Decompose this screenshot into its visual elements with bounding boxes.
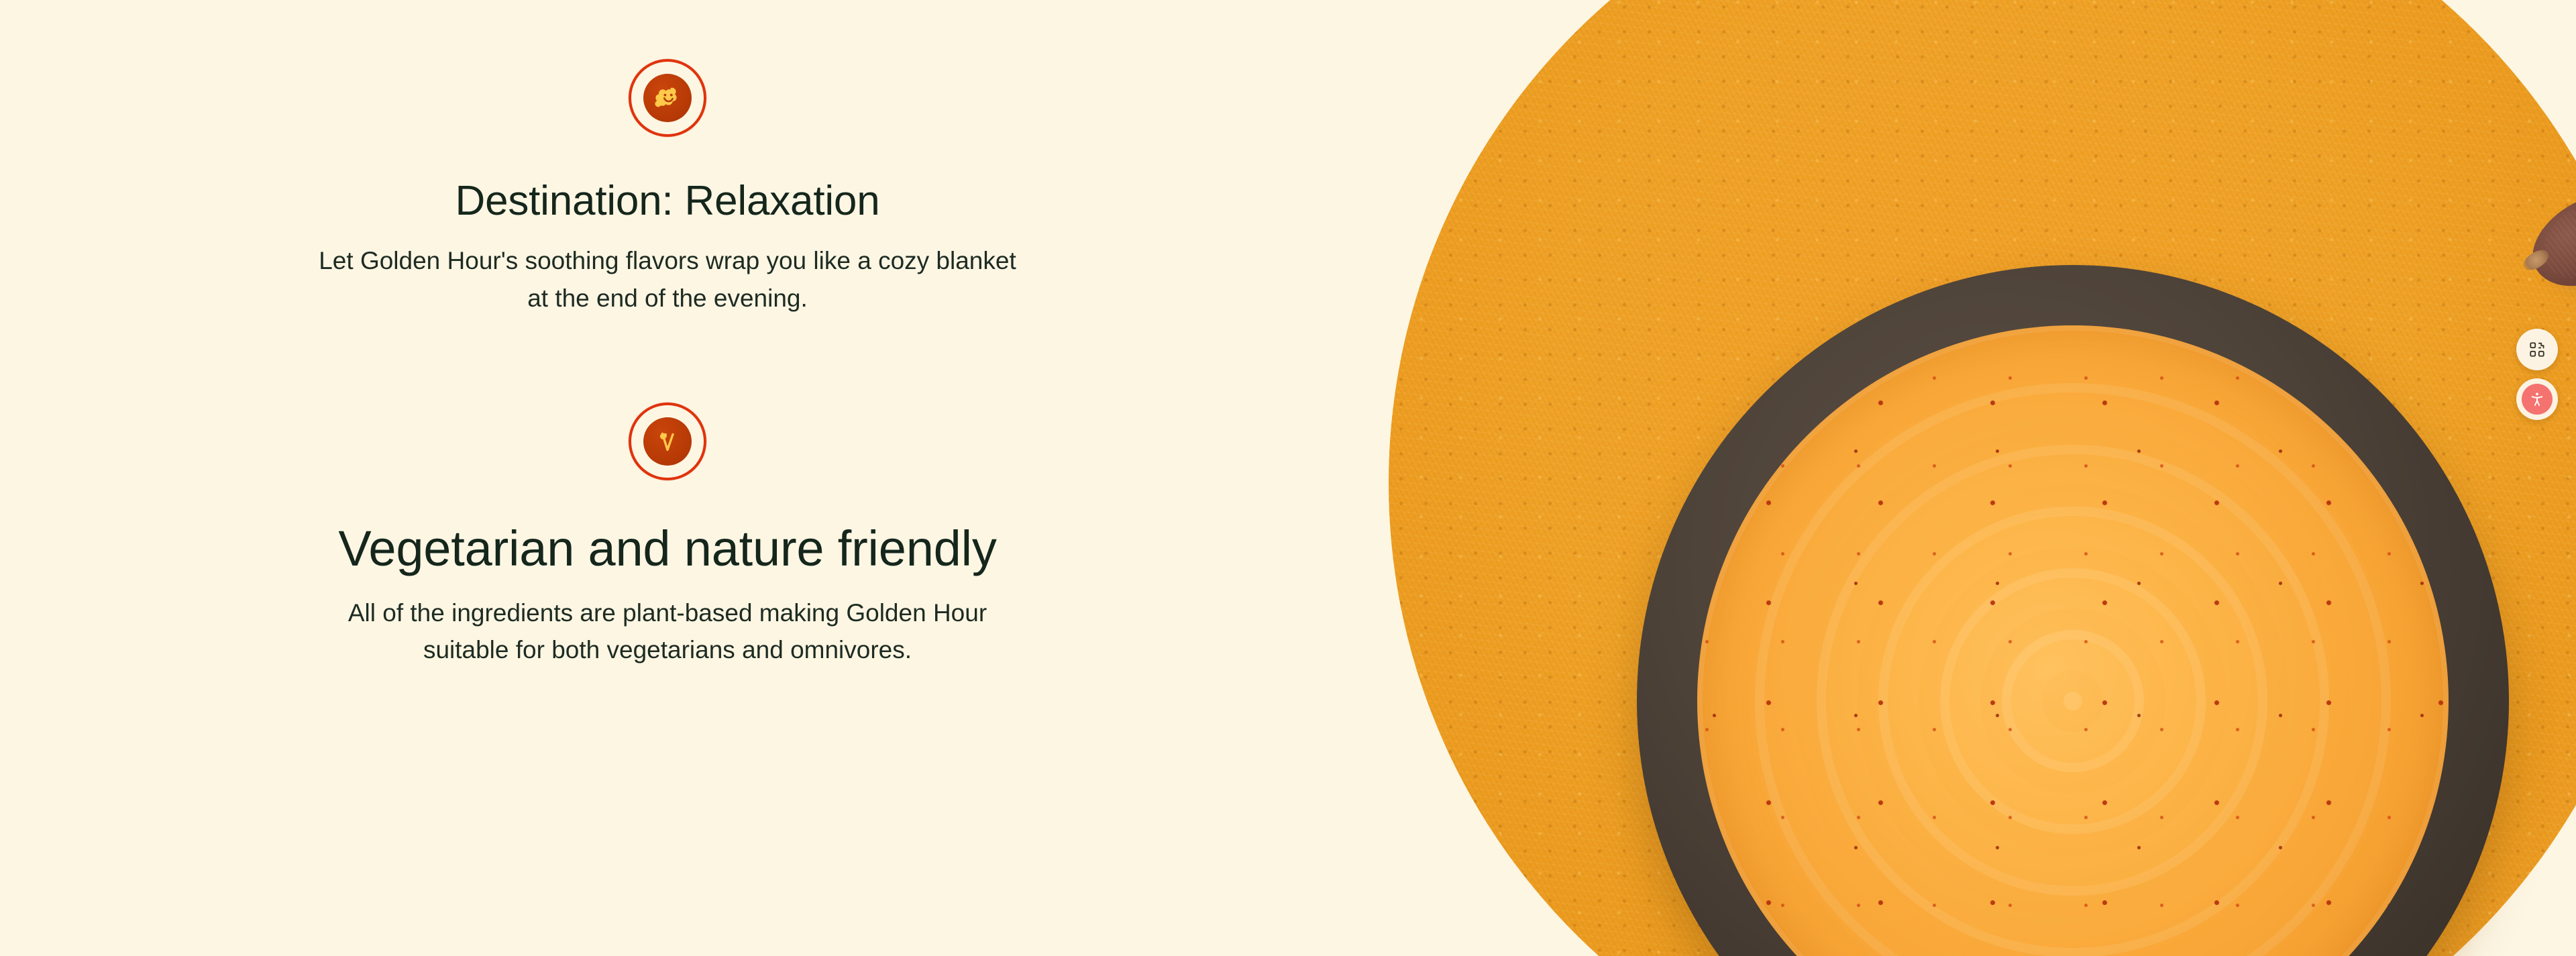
feature-title: Vegetarian and nature friendly	[338, 523, 996, 574]
feature-description-line: Let Golden Hour's soothing flavors wrap …	[319, 242, 1016, 280]
feature-section-page: Destination: Relaxation Let Golden Hour'…	[0, 0, 2576, 956]
floating-widget-stack	[2510, 329, 2569, 420]
qr-code-icon	[2528, 341, 2546, 358]
feature-description-line: suitable for both vegetarians and omnivo…	[348, 631, 987, 669]
feature-item-relaxation: Destination: Relaxation Let Golden Hour'…	[231, 59, 1104, 317]
product-photo	[1167, 0, 2576, 956]
icon-inner-disc	[643, 74, 692, 122]
feature-description: All of the ingredients are plant-based m…	[348, 594, 987, 669]
vegetarian-leaf-v-icon	[629, 403, 706, 480]
qr-scan-widget-button[interactable]	[2516, 329, 2558, 370]
icon-inner-disc	[643, 417, 692, 466]
accessibility-person-icon	[2529, 391, 2545, 407]
feature-list: Destination: Relaxation Let Golden Hour'…	[0, 0, 1335, 956]
feature-description-line: at the end of the evening.	[319, 280, 1016, 317]
feature-item-vegetarian: Vegetarian and nature friendly All of th…	[231, 403, 1104, 668]
accessibility-pill	[2522, 384, 2553, 415]
feature-description-line: All of the ingredients are plant-based m…	[348, 594, 987, 632]
feature-description: Let Golden Hour's soothing flavors wrap …	[319, 242, 1016, 317]
accessibility-widget-button[interactable]	[2516, 378, 2558, 420]
ginger-root-icon	[629, 59, 706, 137]
feature-title: Destination: Relaxation	[455, 180, 880, 222]
